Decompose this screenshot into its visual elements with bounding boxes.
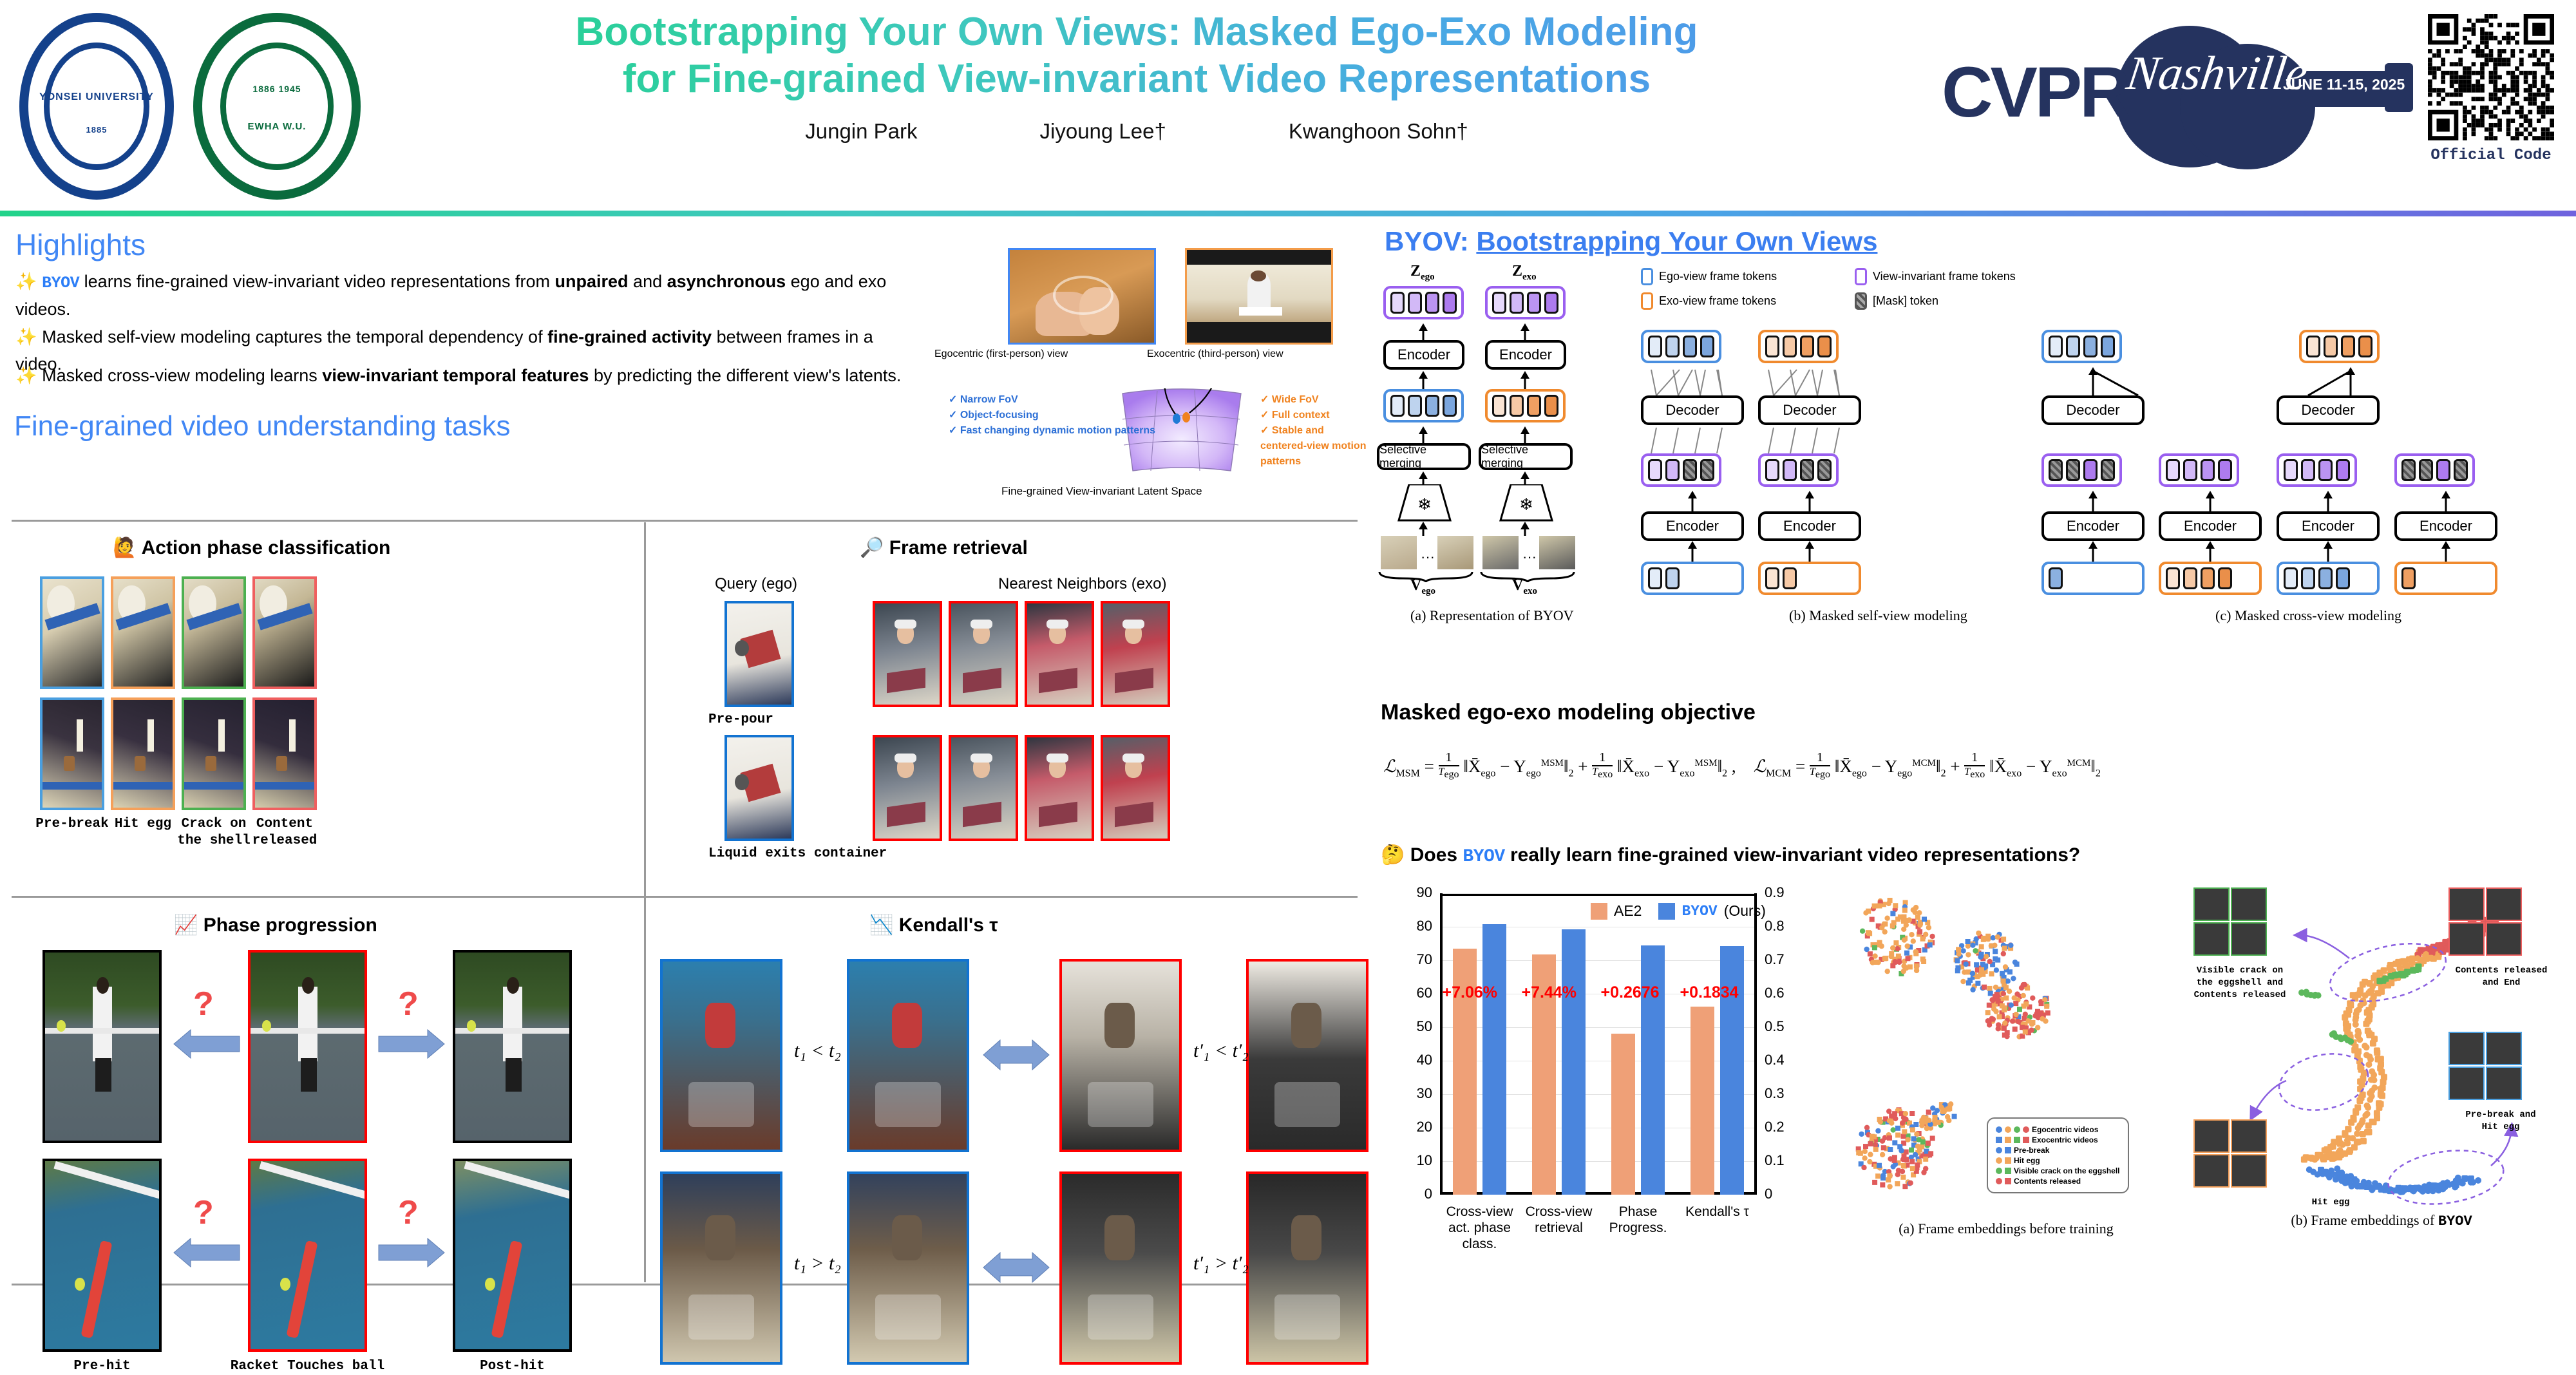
- frame-token: [2183, 459, 2197, 481]
- frame-token: [2049, 567, 2063, 589]
- flow-arrow: [2087, 541, 2099, 562]
- masked-latent-tokens: [1641, 453, 1721, 487]
- arch-caption-c: (c) Masked cross-view modeling: [2215, 607, 2401, 624]
- kendall-frame: [1246, 1171, 1368, 1365]
- ellipsis-exo: ···: [1522, 549, 1537, 565]
- flow-arrow: [1417, 371, 1429, 389]
- tsne-before-training: Egocentric videosExocentric videosPre-br…: [1826, 879, 2186, 1266]
- legend-dot: [2005, 1126, 2011, 1133]
- mask-token: [2401, 459, 2416, 481]
- highlights-heading: Highlights: [15, 227, 146, 262]
- highlight-bullet-1: ✨ BYOV learns fine-grained view-invarian…: [15, 269, 917, 323]
- ewha-logo-text: EWHA W.U.: [193, 121, 361, 132]
- bar-delta-annotation: +0.2676: [1601, 983, 1660, 1002]
- frozen-encoder-exo: ❄: [1499, 484, 1553, 522]
- phase-frame-ego: [453, 1159, 572, 1352]
- legend-square: [2005, 1147, 2011, 1153]
- kendall-frame: [1246, 959, 1368, 1152]
- poster-title-line-2: for Fine-grained View-invariant Video Re…: [412, 56, 1861, 103]
- phase-frame-exo: [43, 950, 162, 1143]
- decoder-box: Decoder: [1758, 395, 1861, 425]
- svg-text:❄: ❄: [1417, 495, 1432, 514]
- exo-video-frame: [1482, 536, 1519, 569]
- encoder-ego-a: Encoder: [1383, 340, 1464, 370]
- author-3: Kwanghoon Sohn†: [1289, 119, 1468, 144]
- legend-dot: [2014, 1126, 2020, 1133]
- y-axis-tick: 60: [1394, 985, 1432, 1001]
- y-axis-tick: 30: [1394, 1085, 1432, 1102]
- flow-arrow: [1417, 471, 1429, 484]
- flow-arrow: [2204, 541, 2216, 562]
- frame-token: [1683, 336, 1697, 357]
- check-icon: ✓: [949, 394, 957, 405]
- kendall-inequality-right: t′₁ < t′₂: [1193, 1040, 1249, 1062]
- tsne-legend-row: Exocentric videos: [1996, 1135, 2120, 1144]
- frame-token: [1665, 459, 1680, 481]
- flow-arrow: [1417, 323, 1429, 340]
- x-axis-category: Cross-view act. phase class.: [1437, 1204, 1522, 1253]
- method-heading-rest: Bootstrapping Your Own Views: [1476, 226, 1877, 256]
- cross-decoder-output-exo: [2299, 330, 2380, 363]
- magnifying-glass-icon: 🔎: [860, 537, 884, 558]
- frame-token: [2318, 459, 2333, 481]
- bar-delta-annotation: +7.06%: [1443, 983, 1498, 1002]
- retrieval-neighbor-frame: [1025, 601, 1094, 707]
- frame-token: [2301, 567, 2315, 589]
- frame-token: [2336, 459, 2350, 481]
- flow-arrow: [1417, 426, 1429, 443]
- yonsei-logo-year: 1885: [19, 125, 174, 135]
- mask-token: [2066, 459, 2080, 481]
- flow-arrow: [2440, 491, 2452, 511]
- poster-title-block: Bootstrapping Your Own Views: Masked Ego…: [412, 9, 1861, 144]
- encoder-to-decoder-arrows: [1641, 425, 1744, 453]
- legend-label-byov: BYOV: [1681, 903, 1717, 920]
- check-item: ✓ Narrow FoV: [949, 392, 1155, 408]
- bar-ae2: [1690, 1007, 1714, 1195]
- frame-token: [2301, 459, 2315, 481]
- mask-token: [1800, 459, 1814, 481]
- cross-encoder-4: Encoder: [2394, 511, 2497, 541]
- frame-token: [1765, 567, 1779, 589]
- frame-token: [2183, 567, 2197, 589]
- frame-token: [2201, 567, 2215, 589]
- arch-caption-a: (a) Representation of BYOV: [1410, 607, 1574, 624]
- frame-token: [1783, 567, 1797, 589]
- y2-axis-tick: 0: [1765, 1186, 1810, 1202]
- ego-video-frame: [1381, 536, 1417, 569]
- thinking-face-icon: 🤔: [1381, 844, 1405, 866]
- objective-heading: Masked ego-exo modeling objective: [1381, 700, 1756, 725]
- tsne-legend-row: Egocentric videos: [1996, 1125, 2120, 1134]
- callout-thumbs-orange: [2193, 1119, 2267, 1188]
- method-heading-prefix: BYOV:: [1385, 226, 1469, 256]
- mask-token: [2049, 459, 2063, 481]
- action-frame-exo: [111, 697, 175, 810]
- y-axis-tick: 90: [1394, 884, 1432, 901]
- kendall-frame: [847, 959, 969, 1152]
- tsne-legend: Egocentric videosExocentric videosPre-br…: [1987, 1117, 2129, 1193]
- retrieval-neighbor-frame: [949, 601, 1018, 707]
- exo-properties-list: ✓ Wide FoV✓ Full context✓ Stable and cen…: [1260, 392, 1368, 469]
- frame-token: [1700, 336, 1714, 357]
- z-exo-token-row: [1485, 286, 1566, 319]
- legend-dot: [2023, 1126, 2029, 1133]
- action-frame-exo: [40, 697, 104, 810]
- frame-token: [1648, 336, 1662, 357]
- frame-token: [1408, 395, 1422, 417]
- input-frame-tokens: [1758, 562, 1861, 595]
- frame-token: [2066, 336, 2080, 357]
- question-mark: ?: [398, 985, 419, 1023]
- check-item: ✓ Full context: [1260, 408, 1368, 423]
- arrow-left-icon: [171, 1027, 242, 1062]
- retrieval-row-label: Liquid exits container: [708, 846, 921, 862]
- frame-token: [2284, 459, 2298, 481]
- frame-token: [1783, 459, 1797, 481]
- frame-token: [1544, 395, 1558, 417]
- question-mark: ?: [398, 1193, 419, 1232]
- frame-token: [1648, 567, 1662, 589]
- frame-token: [1817, 336, 1832, 357]
- retrieval-neighbor-frame: [1025, 735, 1094, 841]
- phase-progression-label: Post-hit: [427, 1358, 598, 1375]
- frame-token: [1800, 336, 1814, 357]
- phase-frame-exo: [248, 950, 367, 1143]
- y2-axis-tick: 0.1: [1765, 1152, 1810, 1169]
- person-raising-hand-icon: 🙋: [113, 537, 137, 558]
- kendall-inequality-left: t₁ < t₂: [794, 1040, 841, 1062]
- phase-frame-exo: [453, 950, 572, 1143]
- frame-token: [1390, 395, 1405, 417]
- check-icon: ✓: [949, 410, 957, 421]
- tsne-caption-b: (b) Frame embeddings of BYOV: [2188, 1212, 2575, 1229]
- cross-input-ego-2: [2277, 562, 2380, 595]
- yonsei-logo-text: YONSEI UNIVERSITY: [19, 91, 174, 103]
- decoder-fanout-arrows: [1758, 367, 1861, 395]
- cross-encoder-2: Encoder: [2159, 511, 2262, 541]
- z-exo-label: Zexo: [1512, 263, 1537, 283]
- panel-phase-progression: 📈 Phase progression ????Pre-hitRacket To…: [0, 900, 644, 1284]
- bar-byov: [1482, 924, 1506, 1195]
- y2-axis-tick: 0.5: [1765, 1018, 1810, 1035]
- z-ego-label: Zego: [1410, 263, 1435, 283]
- legend-swatch-ae2: [1591, 903, 1607, 920]
- kendall-frame: [660, 1171, 782, 1365]
- callout-label-orange: Hit egg: [2295, 1197, 2366, 1209]
- arrow-left-icon: [171, 1236, 242, 1271]
- bar-delta-annotation: +7.44%: [1522, 983, 1577, 1002]
- legend-dot: [1996, 1157, 2002, 1164]
- brace-icons: [1377, 571, 1577, 583]
- flow-arrow: [1804, 491, 1815, 511]
- research-question: 🤔 Does BYOV really learn fine-grained vi…: [1381, 844, 2080, 867]
- exo-view-caption: Exocentric (third-person) view: [1147, 348, 1283, 360]
- decoder-output-tokens: [1641, 330, 1721, 363]
- flow-arrow: [2204, 491, 2216, 511]
- equation-mcm: ℒMCM = 1Tego ‖X̄ego − YegoMCM‖2 + 1Texo …: [1754, 757, 2101, 776]
- frozen-encoder-ego: ❄: [1397, 484, 1452, 522]
- frame-token: [1425, 292, 1439, 314]
- decoder-box: Decoder: [1641, 395, 1744, 425]
- exo-video-frame: [1539, 536, 1575, 569]
- frame-token: [2218, 459, 2232, 481]
- kendall-tau-title: 📉 Kendall's τ: [869, 914, 998, 936]
- x-axis-category: Kendall's τ: [1675, 1204, 1760, 1220]
- tsne-legend-row: Contents released: [1996, 1177, 2120, 1186]
- decoder-fanout-arrows: [1641, 367, 1744, 395]
- y2-axis-tick: 0.8: [1765, 918, 1810, 934]
- frame-token: [1665, 567, 1680, 589]
- encoder-to-decoder-arrows: [1758, 425, 1861, 453]
- x-axis-category: Phase Progress.: [1596, 1204, 1681, 1236]
- tsne-byov-embeddings: Visible crack onthe eggshell andContents…: [2188, 876, 2575, 1269]
- legend-square: [2005, 1157, 2011, 1164]
- selective-merging-exo: Selective merging: [1479, 443, 1573, 470]
- cvpr-date: JUNE 11-15, 2025: [2283, 76, 2405, 93]
- flow-arrow: [2087, 491, 2099, 511]
- frame-retrieval-title: 🔎 Frame retrieval: [860, 536, 1028, 559]
- action-frame-ego: [182, 576, 246, 689]
- masked-latent-tokens: [1758, 453, 1839, 487]
- cross-decoder-ego: Decoder: [2041, 395, 2145, 425]
- retrieval-row-label: Pre-pour: [708, 712, 818, 728]
- legend-square: [1996, 1137, 2002, 1143]
- mask-token: [2454, 459, 2468, 481]
- cross-masked-tokens-d: [2394, 453, 2475, 487]
- frame-token: [1510, 395, 1524, 417]
- exo-view-thumbnail: [1185, 248, 1333, 345]
- kendall-frame: [1059, 1171, 1182, 1365]
- cross-input-ego: [2041, 562, 2145, 595]
- action-frame-ego: [40, 576, 104, 689]
- mask-token: [2101, 459, 2115, 481]
- frame-token: [2166, 459, 2180, 481]
- chart-legend: AE2 BYOV (Ours): [1591, 902, 1766, 920]
- frame-token: [2083, 336, 2098, 357]
- ego-view-caption: Egocentric (first-person) view: [934, 348, 1068, 360]
- check-icon: ✓: [1260, 410, 1269, 421]
- cross-encoder-3: Encoder: [2277, 511, 2380, 541]
- cross-encoder-1: Encoder: [2041, 511, 2145, 541]
- highlight-bullet-3: ✨ Masked cross-view modeling learns view…: [15, 363, 917, 390]
- legend-label-ours: (Ours): [1724, 902, 1766, 920]
- header-divider-rule: [0, 211, 2576, 216]
- cross-input-exo-2: [2394, 562, 2497, 595]
- sparkles-icon: ✨: [15, 272, 37, 291]
- action-phase-label: Content released: [240, 816, 330, 850]
- y-axis-tick: 80: [1394, 918, 1432, 934]
- flow-arrow: [1519, 323, 1531, 340]
- arrow-right-icon: [376, 1236, 447, 1271]
- frame-token: [1408, 292, 1422, 314]
- question-mark: ?: [193, 985, 214, 1023]
- check-icon: ✓: [1260, 394, 1269, 405]
- cross-masked-tokens-a: [2041, 453, 2122, 487]
- callout-thumbs-blue: [2448, 1032, 2522, 1100]
- bar-delta-annotation: +0.1834: [1680, 983, 1739, 1002]
- callout-label-green: Visible crack onthe eggshell andContents…: [2188, 965, 2291, 1001]
- retrieval-query-frame: [724, 601, 794, 707]
- cross-decoder-exo: Decoder: [2277, 395, 2380, 425]
- architecture-diagram: ZegoZexoEncoderEncoderSelective mergingS…: [1372, 258, 2576, 657]
- z-ego-token-row: [1383, 286, 1464, 319]
- legend-swatch: [1641, 292, 1653, 310]
- kendall-frame: [847, 1171, 969, 1365]
- mask-token: [2419, 459, 2433, 481]
- frame-token: [1527, 395, 1541, 417]
- check-item: ✓ Object-focusing: [949, 408, 1155, 423]
- retrieval-neighbor-frame: [873, 601, 942, 707]
- author-2: Jiyoung Lee†: [1040, 119, 1166, 144]
- frame-token: [1492, 395, 1506, 417]
- frame-token: [1648, 459, 1662, 481]
- retrieval-neighbor-frame: [873, 735, 942, 841]
- tasks-heading: Fine-grained video understanding tasks: [14, 410, 510, 442]
- panel-frame-retrieval: 🔎 Frame retrieval Query (ego) Nearest Ne…: [647, 525, 1372, 896]
- y2-axis-tick: 0.9: [1765, 884, 1810, 901]
- callout-label-red: Contents releasedand End: [2437, 965, 2566, 989]
- legend-square: [2005, 1137, 2011, 1143]
- tsne-legend-row: Pre-break: [1996, 1146, 2120, 1155]
- byov-mark: BYOV: [1463, 847, 1504, 867]
- retrieval-query-header: Query (ego): [715, 575, 797, 593]
- panel-action-phase-classification: 🙋 Action phase classification Pre-breakH…: [0, 525, 644, 896]
- poster-title-line-1: Bootstrapping Your Own Views: Masked Ego…: [412, 9, 1861, 56]
- tsne-legend-row: Visible crack on the eggshell: [1996, 1166, 2120, 1175]
- callout-thumbs-green: [2193, 887, 2267, 956]
- retrieval-neighbors-header: Nearest Neighbors (exo): [998, 575, 1166, 593]
- ewha-university-logo: 1886 1945 EWHA W.U.: [193, 13, 361, 200]
- legend-square: [2005, 1168, 2011, 1174]
- arch-legend-item: [Mask] token: [1855, 292, 1938, 310]
- cross-decoder-output-ego: [2041, 330, 2122, 363]
- legend-square: [2023, 1137, 2029, 1143]
- check-icon: ✓: [1260, 425, 1269, 436]
- arrow-bidirectional-icon: [981, 1036, 1052, 1074]
- legend-swatch: [1855, 268, 1867, 285]
- arch-legend-item: View-invariant frame tokens: [1855, 268, 2016, 285]
- arrow-bidirectional-icon: [981, 1249, 1052, 1286]
- panel-divider-middle: [12, 896, 1358, 898]
- frame-token: [2401, 567, 2416, 589]
- frame-token: [2218, 567, 2232, 589]
- y2-axis-tick: 0.7: [1765, 951, 1810, 968]
- frame-token: [2324, 336, 2338, 357]
- ego-token-row-a: [1383, 389, 1464, 422]
- method-heading: BYOV: Bootstrapping Your Own Views: [1385, 226, 1877, 257]
- arch-caption-b: (b) Masked self-view modeling: [1789, 607, 1967, 624]
- frame-token: [2083, 459, 2098, 481]
- poster-header: YONSEI UNIVERSITY 1885 1886 1945 EWHA W.…: [0, 0, 2576, 213]
- frame-token: [1492, 292, 1506, 314]
- tsne-legend-row: Hit egg: [1996, 1156, 2120, 1165]
- callout-thumbs-red: [2448, 887, 2522, 956]
- left-column: Highlights ✨ BYOV learns fine-grained vi…: [0, 222, 1372, 1288]
- ewha-logo-years: 1886 1945: [193, 84, 361, 94]
- action-frame-exo: [182, 697, 246, 810]
- kendall-inequality-right: t′₁ > t′₂: [1193, 1253, 1249, 1275]
- encoder-exo-a: Encoder: [1485, 340, 1566, 370]
- frame-token: [1443, 395, 1457, 417]
- panel-divider-top: [12, 520, 1358, 522]
- y-axis-tick: 0: [1394, 1186, 1432, 1202]
- legend-swatch: [1641, 268, 1653, 285]
- right-column: BYOV: Bootstrapping Your Own Views ZegoZ…: [1372, 222, 2576, 1288]
- author-1: Jungin Park: [805, 119, 917, 144]
- action-frame-ego: [252, 576, 317, 689]
- mask-token: [1700, 459, 1714, 481]
- ego-video-frame: [1437, 536, 1473, 569]
- phase-frame-ego: [248, 1159, 367, 1352]
- results-bar-chart: 00100.1200.2300.3400.4500.5600.6700.7800…: [1378, 879, 1823, 1266]
- cross-input-exo: [2159, 562, 2262, 595]
- y2-axis-tick: 0.2: [1765, 1119, 1810, 1135]
- trend-clock-icon: 📉: [869, 915, 893, 936]
- frame-token: [1665, 336, 1680, 357]
- frame-token: [1765, 459, 1779, 481]
- frame-token: [2436, 459, 2450, 481]
- phase-progression-label: Pre-hit: [17, 1358, 187, 1375]
- y-axis-tick: 70: [1394, 951, 1432, 968]
- sparkles-icon: ✨: [15, 327, 37, 346]
- flow-arrow: [1687, 541, 1698, 562]
- sparkles-icon: ✨: [15, 366, 37, 385]
- cross-arrow-2: [2299, 367, 2402, 395]
- legend-swatch-mask: [1855, 292, 1867, 310]
- flow-arrow: [2440, 541, 2452, 562]
- svg-text:❄: ❄: [1519, 495, 1533, 514]
- frame-token: [1510, 292, 1524, 314]
- frame-token: [1443, 292, 1457, 314]
- legend-dot: [1996, 1147, 2002, 1153]
- bar-byov: [1562, 929, 1586, 1195]
- phase-frame-ego: [43, 1159, 162, 1352]
- qr-code[interactable]: [2428, 14, 2554, 140]
- cross-latent-tokens-b: [2159, 453, 2239, 487]
- mask-token: [1683, 459, 1697, 481]
- yonsei-university-logo: YONSEI UNIVERSITY 1885: [19, 13, 174, 200]
- frame-token: [2284, 567, 2298, 589]
- x-axis-category: Cross-view retrieval: [1517, 1204, 1602, 1236]
- tsne-caption-a: (a) Frame embeddings before training: [1826, 1220, 2186, 1237]
- exo-token-row-a: [1485, 389, 1566, 422]
- frame-token: [2306, 336, 2320, 357]
- y-axis-tick: 10: [1394, 1152, 1432, 1169]
- legend-square: [2014, 1137, 2020, 1143]
- flow-arrow: [1687, 491, 1698, 511]
- y2-axis-tick: 0.4: [1765, 1052, 1810, 1068]
- input-frame-tokens: [1641, 562, 1744, 595]
- y-axis-tick: 40: [1394, 1052, 1432, 1068]
- ego-view-thumbnail: [1008, 248, 1156, 345]
- frame-token: [2049, 336, 2063, 357]
- flow-arrow: [2322, 541, 2334, 562]
- frame-token: [1765, 336, 1779, 357]
- frame-token: [1425, 395, 1439, 417]
- flow-arrow: [1519, 522, 1531, 536]
- bar-byov: [1641, 945, 1665, 1195]
- action-frame-exo: [252, 697, 317, 810]
- legend-dot: [1996, 1178, 2002, 1184]
- cvpr-wordmark: CVPR: [1942, 52, 2128, 133]
- y-axis-tick: 20: [1394, 1119, 1432, 1135]
- teaser-figure: Egocentric (first-person) view Exocentri…: [931, 248, 1368, 518]
- frame-token: [2166, 567, 2180, 589]
- retrieval-query-frame: [724, 735, 794, 841]
- frame-token: [1783, 336, 1797, 357]
- legend-square: [2005, 1178, 2011, 1184]
